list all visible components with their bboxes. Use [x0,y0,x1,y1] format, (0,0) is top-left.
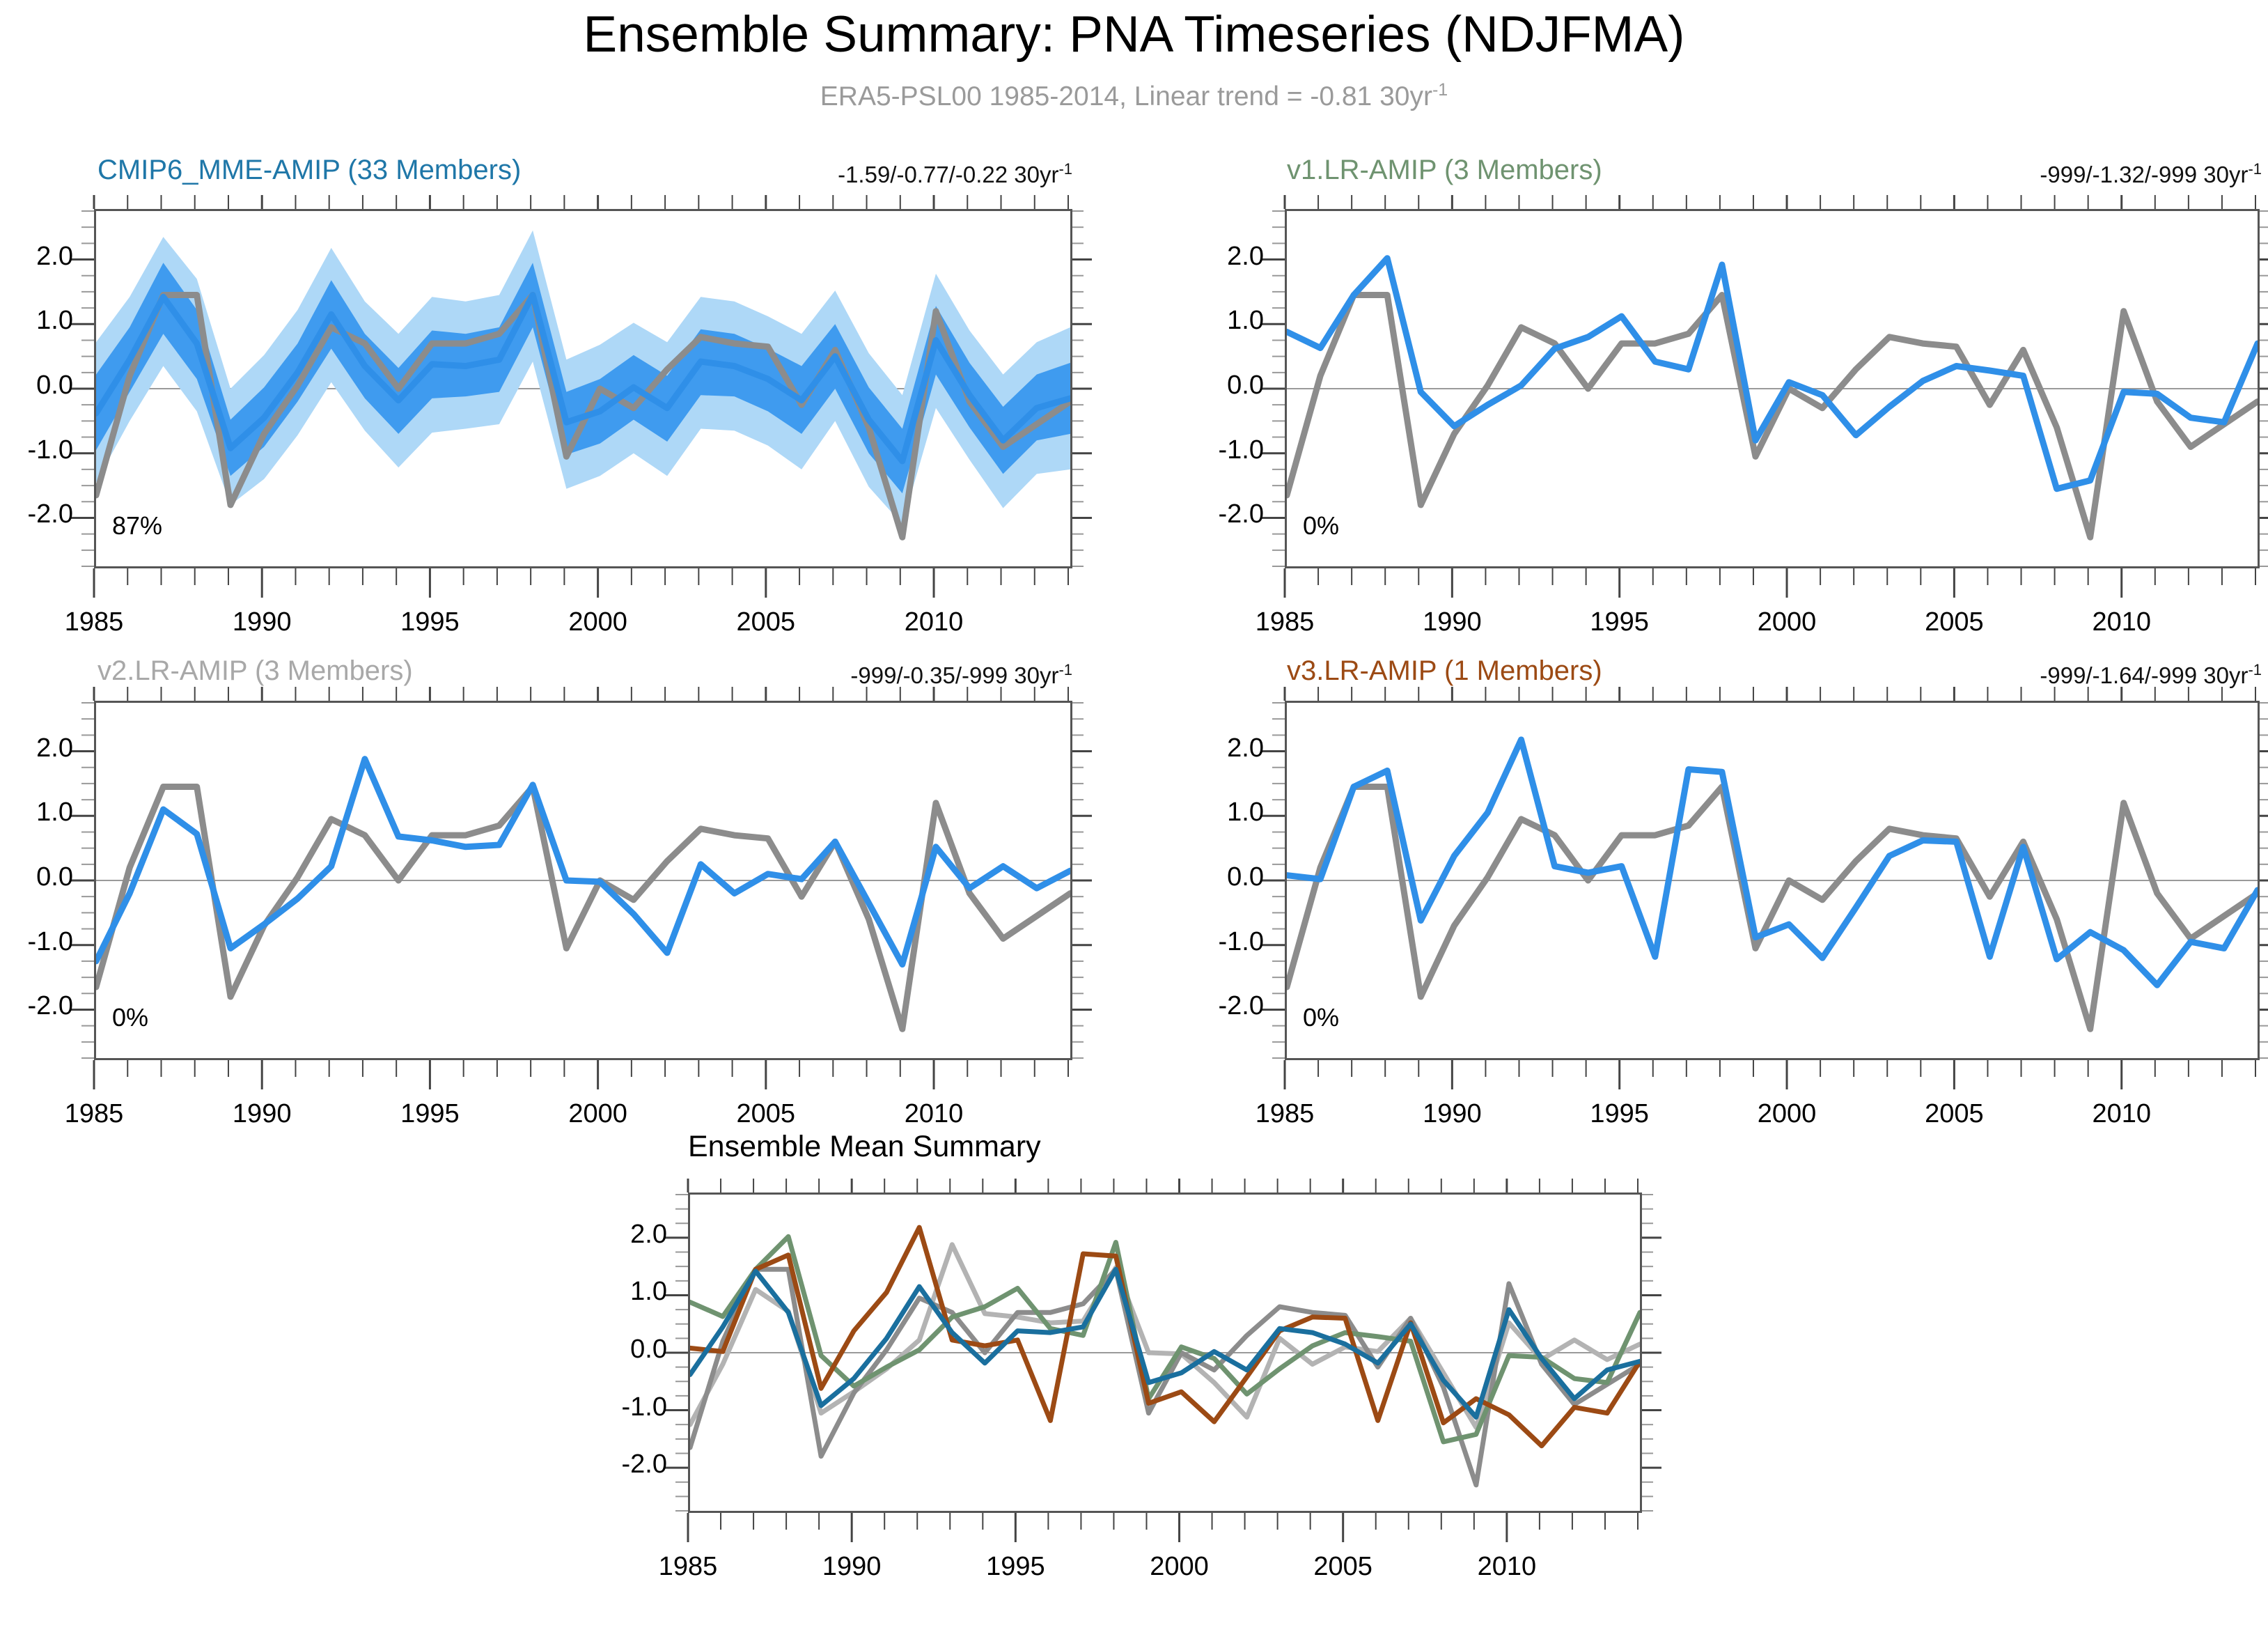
x-tick-label-summary-5: 2010 [1437,1552,1577,1582]
y-tick-label-cmip6-4: -2.0 [0,499,73,529]
x-tick-label-v2-1: 1990 [192,1099,331,1129]
panel-v3-trend: -999/-1.64/-999 30yr-1 [1635,661,2262,689]
plot-svg-v2 [96,703,1070,1058]
panel-v2-title: v2.LR-AMIP (3 Members) [97,655,413,687]
panel-v1-title: v1.LR-AMIP (3 Members) [1287,155,1602,186]
x-tick-label-v3-2: 1995 [1550,1099,1689,1129]
x-tick-label-v2-0: 1985 [24,1099,164,1129]
y-tick-label-v1-0: 2.0 [1152,242,1264,272]
plot-svg-summary [690,1195,1640,1511]
y-tick-label-summary-2: 0.0 [556,1335,667,1365]
panel-v3-trend-text: -999/-1.64/-999 30yr [2040,662,2248,688]
panel-v1-trend-text: -999/-1.32/-999 30yr [2040,162,2248,187]
plot-area-v2 [94,701,1072,1060]
coverage-percent-cmip6: 87% [112,511,162,541]
x-tick-label-v1-0: 1985 [1215,607,1354,637]
x-tick-label-cmip6-1: 1990 [192,607,331,637]
plot-area-v1 [1285,209,2260,568]
summary-panel-title: Ensemble Mean Summary [688,1130,1041,1164]
x-tick-label-cmip6-0: 1985 [24,607,164,637]
y-tick-label-v2-1: 1.0 [0,798,73,828]
y-tick-label-v2-4: -2.0 [0,991,73,1021]
plot-area-v3 [1285,701,2260,1060]
x-tick-label-v1-1: 1990 [1382,607,1522,637]
x-tick-label-v2-4: 2005 [696,1099,836,1129]
plot-svg-v1 [1287,211,2258,566]
x-tick-label-v3-0: 1985 [1215,1099,1354,1129]
x-tick-label-cmip6-4: 2005 [696,607,836,637]
x-tick-label-v3-1: 1990 [1382,1099,1522,1129]
x-tick-label-v2-5: 2010 [864,1099,1003,1129]
figure-subtitle-exponent: -1 [1432,80,1448,100]
y-tick-label-summary-4: -2.0 [556,1450,667,1479]
panel-cmip6-trend-exponent: -1 [1058,160,1072,178]
plot-svg-cmip6 [96,211,1070,566]
y-tick-label-cmip6-2: 0.0 [0,371,73,401]
y-tick-label-v1-3: -1.0 [1152,435,1264,465]
y-tick-label-v2-2: 0.0 [0,862,73,892]
y-tick-label-v3-2: 0.0 [1152,862,1264,892]
figure-subtitle: ERA5-PSL00 1985-2014, Linear trend = -0.… [0,80,2268,112]
x-tick-label-v2-3: 2000 [529,1099,668,1129]
y-tick-label-v3-0: 2.0 [1152,733,1264,763]
x-tick-label-cmip6-3: 2000 [529,607,668,637]
y-tick-label-v2-3: -1.0 [0,927,73,957]
y-tick-label-summary-1: 1.0 [556,1277,667,1307]
x-tick-label-v3-4: 2005 [1884,1099,2024,1129]
y-tick-label-v3-1: 1.0 [1152,798,1264,828]
panel-v2-trend: -999/-0.35/-999 30yr-1 [446,661,1072,689]
coverage-percent-v1: 0% [1303,511,1339,541]
x-tick-label-summary-1: 1990 [782,1552,921,1582]
x-tick-label-v2-2: 1995 [360,1099,499,1129]
y-tick-label-summary-3: -1.0 [556,1392,667,1422]
x-tick-label-v1-5: 2010 [2052,607,2191,637]
y-tick-label-v2-0: 2.0 [0,733,73,763]
y-tick-label-v1-2: 0.0 [1152,371,1264,401]
x-tick-label-v1-2: 1995 [1550,607,1689,637]
y-tick-label-v3-3: -1.0 [1152,927,1264,957]
panel-cmip6-trend: -1.59/-0.77/-0.22 30yr-1 [446,160,1072,188]
y-tick-label-v1-4: -2.0 [1152,499,1264,529]
x-tick-label-cmip6-2: 1995 [360,607,499,637]
x-tick-label-v3-3: 2000 [1717,1099,1856,1129]
y-tick-label-cmip6-3: -1.0 [0,435,73,465]
x-tick-label-v3-5: 2010 [2052,1099,2191,1129]
x-tick-label-v1-3: 2000 [1717,607,1856,637]
x-tick-label-cmip6-5: 2010 [864,607,1003,637]
figure-root: Ensemble Summary: PNA Timeseries (NDJFMA… [0,0,2268,1639]
x-tick-label-summary-4: 2005 [1274,1552,1413,1582]
panel-v1-trend-exponent: -1 [2248,160,2262,178]
obs-line [1287,787,2258,1030]
panel-v3-title: v3.LR-AMIP (1 Members) [1287,655,1602,687]
plot-svg-v3 [1287,703,2258,1058]
x-tick-label-summary-0: 1985 [618,1552,758,1582]
x-tick-label-v1-4: 2005 [1884,607,2024,637]
panel-cmip6-trend-text: -1.59/-0.77/-0.22 30yr [838,162,1058,187]
coverage-percent-v3: 0% [1303,1003,1339,1032]
y-tick-label-summary-0: 2.0 [556,1220,667,1250]
panel-v3-trend-exponent: -1 [2248,661,2262,678]
y-tick-label-v1-1: 1.0 [1152,306,1264,336]
coverage-percent-v2: 0% [112,1003,148,1032]
plot-area-cmip6 [94,209,1072,568]
y-tick-label-cmip6-0: 2.0 [0,242,73,272]
x-tick-label-summary-2: 1995 [946,1552,1085,1582]
plot-area-summary [688,1193,1642,1513]
summary-line-v3 [690,1227,1640,1446]
figure-title: Ensemble Summary: PNA Timeseries (NDJFMA… [0,6,2268,63]
x-tick-label-summary-3: 2000 [1110,1552,1249,1582]
figure-subtitle-text: ERA5-PSL00 1985-2014, Linear trend = -0.… [820,81,1432,111]
panel-v2-trend-text: -999/-0.35/-999 30yr [850,662,1058,688]
panel-v2-trend-exponent: -1 [1058,661,1072,678]
y-tick-label-cmip6-1: 1.0 [0,306,73,336]
panel-v1-trend: -999/-1.32/-999 30yr-1 [1635,160,2262,188]
y-tick-label-v3-4: -2.0 [1152,991,1264,1021]
obs-line [96,787,1070,1030]
